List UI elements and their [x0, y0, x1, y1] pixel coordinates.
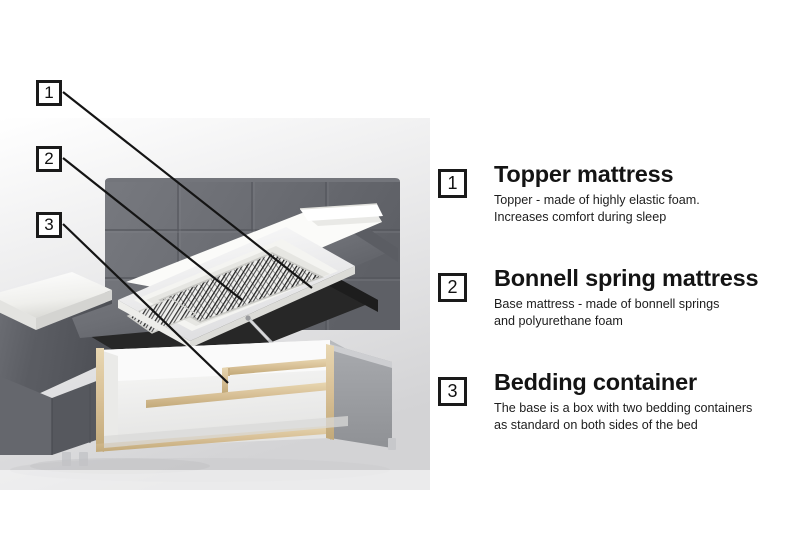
legend-number-2: 2 — [438, 273, 467, 302]
legend-title-1: Topper mattress — [494, 160, 794, 188]
bedding-container-group — [96, 340, 392, 452]
callout-marker-3: 3 — [36, 212, 62, 238]
legend-description-2: Base mattress - made of bonnell springs … — [494, 296, 794, 329]
legend-item-bonnell-spring-mattress: 2 Bonnell spring mattress Base mattress … — [438, 264, 794, 338]
diagram-page: 1 2 3 1 Topper mattress Topper - made of… — [0, 0, 800, 533]
legend-description-1: Topper - made of highly elastic foam. In… — [494, 192, 794, 225]
legend-body-2: Bonnell spring mattress Base mattress - … — [494, 264, 794, 329]
legend-item-bedding-container: 3 Bedding container The base is a box wi… — [438, 368, 794, 442]
boxspring-bed-photo — [0, 0, 430, 490]
legend-description-3: The base is a box with two bedding conta… — [494, 400, 794, 433]
bed-illustration: 1 2 3 — [0, 0, 430, 533]
legend-list: 1 Topper mattress Topper - made of highl… — [438, 160, 794, 472]
legend-number-3: 3 — [438, 377, 467, 406]
callout-marker-1: 1 — [36, 80, 62, 106]
legend-item-topper-mattress: 1 Topper mattress Topper - made of highl… — [438, 160, 794, 234]
legend-title-2: Bonnell spring mattress — [494, 264, 794, 292]
legend-title-3: Bedding container — [494, 368, 794, 396]
callout-marker-2: 2 — [36, 146, 62, 172]
legend-body-1: Topper mattress Topper - made of highly … — [494, 160, 794, 225]
bed-foot-right — [388, 438, 396, 450]
legend-body-3: Bedding container The base is a box with… — [494, 368, 794, 433]
legend-number-1: 1 — [438, 169, 467, 198]
